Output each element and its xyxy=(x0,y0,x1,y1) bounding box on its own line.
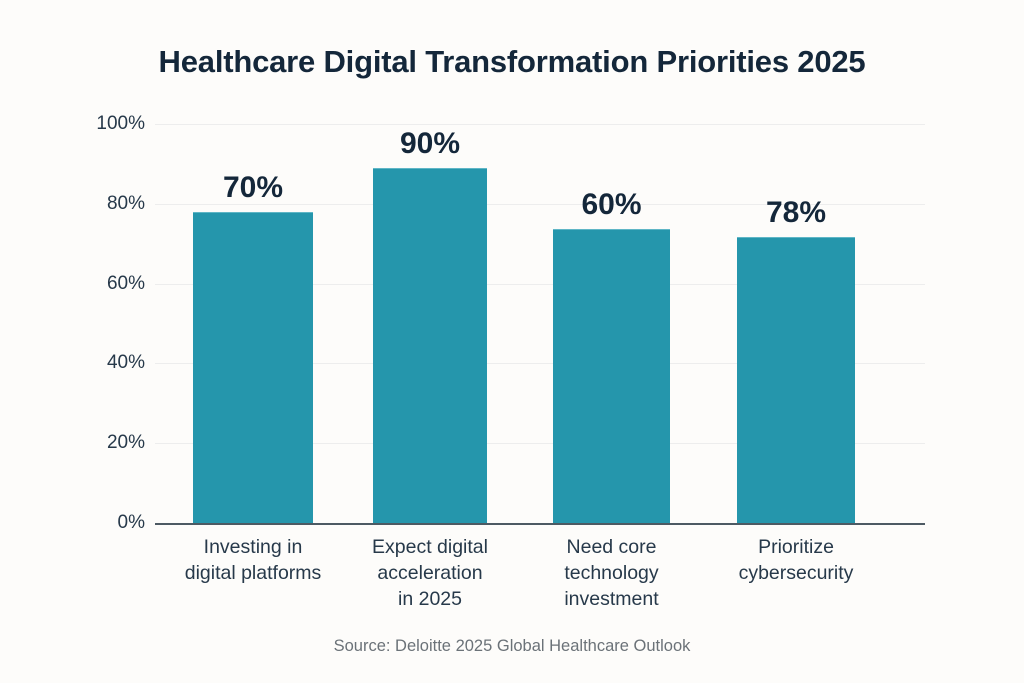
x-category-label-line: Investing in xyxy=(153,534,353,560)
bar-value-label: 60% xyxy=(553,188,670,222)
y-tick-label: 0% xyxy=(0,512,145,534)
x-category-label-line: investment xyxy=(512,586,712,612)
bar[interactable] xyxy=(193,212,313,523)
x-category-label: Need coretechnologyinvestment xyxy=(512,534,712,612)
x-axis-line xyxy=(155,523,925,525)
y-tick-label: 100% xyxy=(0,113,145,135)
bar[interactable] xyxy=(373,168,487,523)
bar-value-label: 70% xyxy=(193,171,313,205)
gridline xyxy=(155,124,925,125)
y-tick-label: 60% xyxy=(0,273,145,295)
x-category-label-line: acceleration xyxy=(330,560,530,586)
bar-value-label: 90% xyxy=(373,127,487,161)
x-axis-category-labels: Investing indigital platformsExpect digi… xyxy=(155,534,925,629)
x-category-label: Investing indigital platforms xyxy=(153,534,353,586)
x-category-label-line: technology xyxy=(512,560,712,586)
y-tick-label: 40% xyxy=(0,352,145,374)
y-axis: 0%20%40%60%80%100% xyxy=(0,0,145,683)
x-category-label-line: cybersecurity xyxy=(696,560,896,586)
x-category-label-line: in 2025 xyxy=(330,586,530,612)
x-category-label-line: Need core xyxy=(512,534,712,560)
chart-title: Healthcare Digital Transformation Priori… xyxy=(0,44,1024,80)
source-caption: Source: Deloitte 2025 Global Healthcare … xyxy=(0,637,1024,656)
x-category-label-line: Prioritize xyxy=(696,534,896,560)
x-category-label: Prioritizecybersecurity xyxy=(696,534,896,586)
x-category-label-line: digital platforms xyxy=(153,560,353,586)
y-tick-label: 80% xyxy=(0,193,145,215)
x-category-label: Expect digitalaccelerationin 2025 xyxy=(330,534,530,612)
bar-value-label: 78% xyxy=(737,196,855,230)
x-category-label-line: Expect digital xyxy=(330,534,530,560)
bar-chart-figure: Healthcare Digital Transformation Priori… xyxy=(0,0,1024,683)
y-tick-label: 20% xyxy=(0,432,145,454)
bar[interactable] xyxy=(553,229,670,523)
bar[interactable] xyxy=(737,237,855,523)
